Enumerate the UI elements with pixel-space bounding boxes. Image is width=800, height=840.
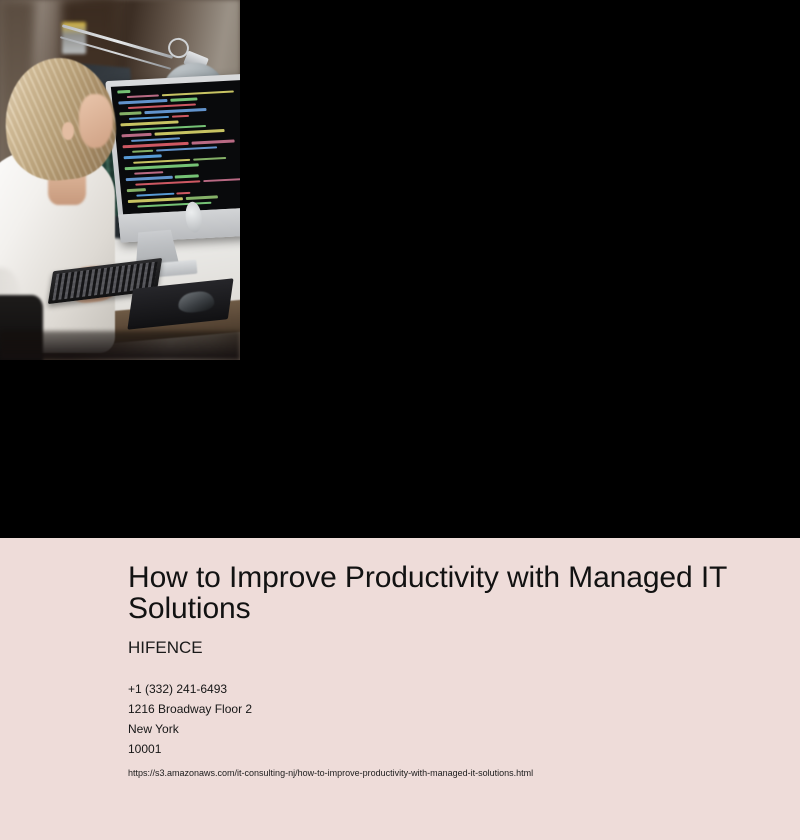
person-face (79, 94, 113, 148)
contact-city: New York (128, 719, 758, 739)
contact-phone[interactable]: +1 (332) 241-6493 (128, 679, 758, 699)
code-editor-screen (111, 81, 240, 216)
article-text-block: How to Improve Productivity with Managed… (128, 562, 758, 779)
hero-photo (0, 0, 240, 360)
article-panel: How to Improve Productivity with Managed… (0, 538, 800, 840)
brand-name: HIFENCE (128, 638, 758, 658)
floor-shadow (0, 331, 240, 360)
contact-street: 1216 Broadway Floor 2 (128, 699, 758, 719)
source-url[interactable]: https://s3.amazonaws.com/it-consulting-n… (128, 767, 758, 779)
contact-block: +1 (332) 241-6493 1216 Broadway Floor 2 … (128, 679, 758, 759)
imac-monitor (105, 74, 240, 243)
hero-band (0, 0, 800, 538)
contact-zip: 10001 (128, 739, 758, 759)
page-root: How to Improve Productivity with Managed… (0, 0, 800, 840)
page-title: How to Improve Productivity with Managed… (128, 562, 758, 624)
